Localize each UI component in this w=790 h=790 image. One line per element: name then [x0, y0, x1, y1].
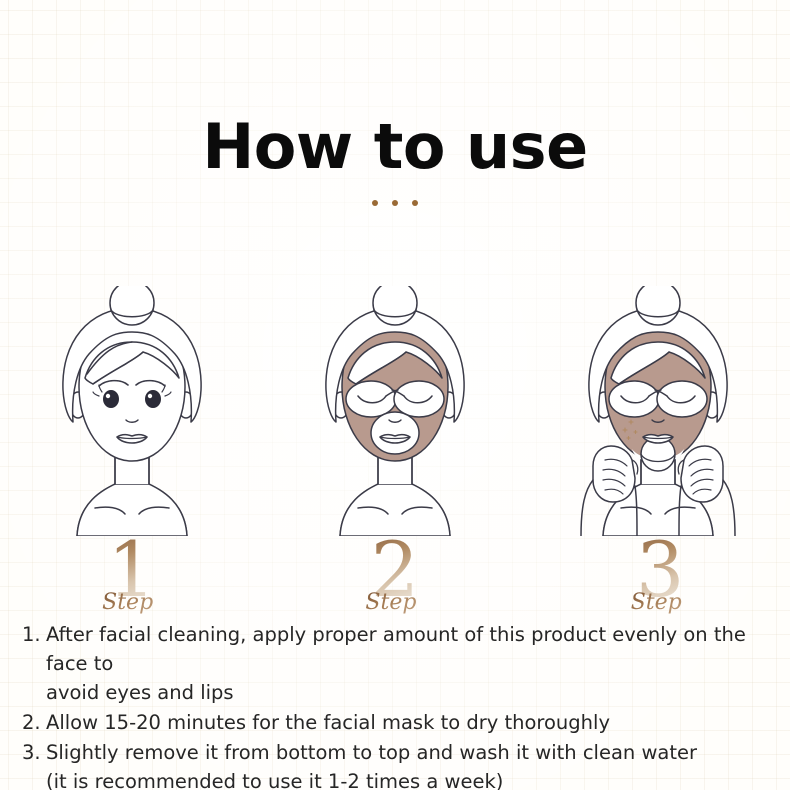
instruction-2-text: Allow 15-20 minutes for the facial mask … — [46, 711, 610, 734]
title-block: How to use — [0, 112, 790, 206]
step-numbers-row: 1 Step 2 Step 3 Step — [0, 534, 790, 620]
instruction-item-3: 3. Slightly remove it from bottom to top… — [22, 738, 778, 790]
how-to-use-infographic: How to use — [0, 0, 790, 790]
instruction-item-1: 1. After facial cleaning, apply proper a… — [22, 620, 778, 707]
instructions-list: 1. After facial cleaning, apply proper a… — [22, 620, 778, 790]
page-title: How to use — [0, 112, 790, 182]
step-2-number-group: 2 Step — [263, 534, 526, 620]
instruction-1-body: After facial cleaning, apply proper amou… — [46, 620, 778, 707]
instruction-1-number: 1. — [22, 620, 46, 649]
step-1-number-group: 1 Step — [0, 534, 263, 620]
steps-illustration-row — [0, 286, 790, 536]
instruction-3-number: 3. — [22, 738, 46, 767]
instruction-1-continuation: avoid eyes and lips — [46, 678, 778, 707]
step-1-label: Step — [102, 590, 153, 616]
title-dots-decoration — [0, 200, 790, 206]
woman-peeling-mask-icon — [533, 286, 783, 536]
step-1-illustration — [0, 286, 263, 536]
instruction-2-number: 2. — [22, 708, 46, 737]
decorative-dot-3 — [412, 200, 418, 206]
step-3-number-group: 3 Step — [527, 534, 790, 620]
instruction-item-2: 2. Allow 15-20 minutes for the facial ma… — [22, 708, 778, 737]
instruction-3-body: Slightly remove it from bottom to top an… — [46, 738, 778, 790]
step-3-label: Step — [631, 590, 682, 616]
instruction-3-text: Slightly remove it from bottom to top an… — [46, 741, 697, 764]
woman-face-with-mask-icon — [270, 286, 520, 536]
step-3-illustration — [527, 286, 790, 536]
decorative-dot-2 — [392, 200, 398, 206]
instruction-1-text: After facial cleaning, apply proper amou… — [46, 623, 746, 675]
step-2-label: Step — [365, 590, 416, 616]
instruction-2-body: Allow 15-20 minutes for the facial mask … — [46, 708, 778, 737]
step-2-illustration — [263, 286, 526, 536]
woman-face-clean-icon — [7, 286, 257, 536]
decorative-dot-1 — [372, 200, 378, 206]
instruction-3-continuation: (it is recommended to use it 1-2 times a… — [46, 767, 778, 790]
